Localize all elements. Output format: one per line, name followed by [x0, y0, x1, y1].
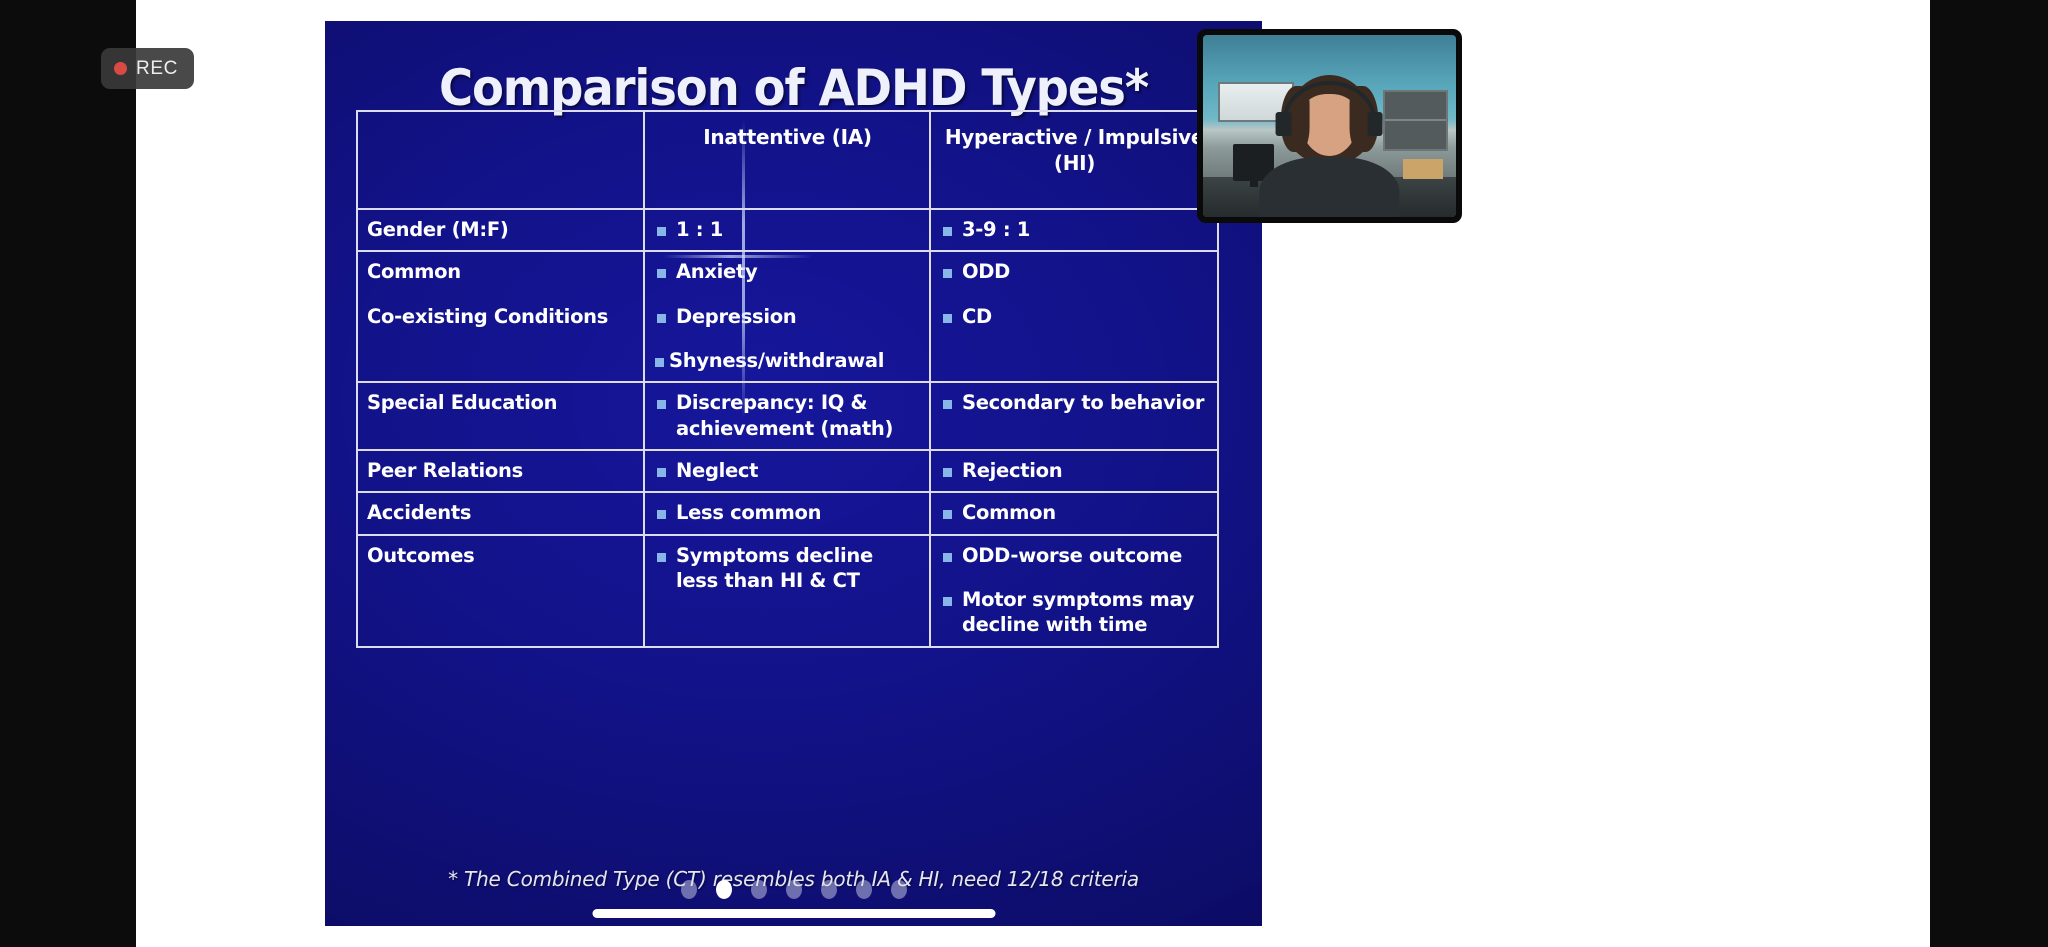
row-label-outcomes: Outcomes	[357, 535, 644, 647]
row-label-line1: Common	[367, 259, 635, 284]
slide-pagination[interactable]	[681, 880, 907, 899]
table-row: Outcomes Symptoms decline less than HI &…	[357, 535, 1218, 647]
row-ia-accidents: Less common	[644, 492, 930, 534]
bullet-item: Rejection	[940, 458, 1209, 483]
bullet-item: ODD	[940, 259, 1209, 284]
pagination-dot[interactable]	[751, 880, 767, 899]
bullet-item: Secondary to behavior	[940, 390, 1209, 415]
pagination-dot[interactable]	[786, 880, 802, 899]
row-label-accidents: Accidents	[357, 492, 644, 534]
row-hi-coexisting: ODD CD	[930, 251, 1218, 382]
row-label-special-education: Special Education	[357, 382, 644, 450]
headset-earcup-right	[1368, 112, 1383, 136]
playback-progress-fill	[592, 909, 995, 918]
pagination-dot[interactable]	[856, 880, 872, 899]
table-header-blank	[357, 111, 644, 209]
table-header-hyperactive: Hyperactive / Impulsive (HI)	[930, 111, 1218, 209]
screen-root: REC Comparison of ADHD Types* Inattentiv…	[0, 0, 2048, 947]
bullet-item: Depression	[654, 304, 921, 329]
pagination-dot-active[interactable]	[716, 880, 732, 899]
row-ia-gender: 1 : 1	[644, 209, 930, 251]
bullet-item: Less common	[654, 500, 921, 525]
pagination-dot[interactable]	[891, 880, 907, 899]
table-header-row: Inattentive (IA) Hyperactive / Impulsive…	[357, 111, 1218, 209]
bullet-item: Shyness/withdrawal	[654, 348, 921, 373]
pagination-dot[interactable]	[681, 880, 697, 899]
row-label-common-coexisting: Common Co-existing Conditions	[357, 251, 644, 382]
comparison-table-wrapper: Inattentive (IA) Hyperactive / Impulsive…	[356, 110, 1217, 648]
bullet-item: ODD-worse outcome	[940, 543, 1209, 568]
presenter-figure	[1270, 75, 1389, 217]
player-right-gutter	[1930, 0, 2048, 947]
shelf-shape	[1383, 90, 1449, 152]
table-row: Accidents Less common Common	[357, 492, 1218, 534]
row-ia-outcomes: Symptoms decline less than HI & CT	[644, 535, 930, 647]
webcam-overlay-tile[interactable]	[1197, 29, 1462, 223]
box-shape	[1403, 159, 1443, 179]
slide-content: Comparison of ADHD Types* Inattentive (I…	[325, 21, 1262, 926]
row-ia-special-education: Discrepancy: IQ & achievement (math)	[644, 382, 930, 450]
recording-label: REC	[136, 58, 178, 80]
row-hi-accidents: Common	[930, 492, 1218, 534]
slide[interactable]: Comparison of ADHD Types* Inattentive (I…	[325, 21, 1262, 926]
row-ia-coexisting: Anxiety Depression Shyness/withdrawal	[644, 251, 930, 382]
comparison-table: Inattentive (IA) Hyperactive / Impulsive…	[356, 110, 1219, 648]
bullet-item: Motor symptoms may decline with time	[940, 587, 1209, 638]
torso-shape	[1259, 157, 1399, 217]
recording-indicator[interactable]: REC	[101, 48, 194, 89]
slide-title: Comparison of ADHD Types*	[358, 59, 1229, 117]
player-left-gutter	[0, 0, 136, 947]
bullet-item: Common	[940, 500, 1209, 525]
bullet-item: CD	[940, 304, 1209, 329]
bullet-item: Neglect	[654, 458, 921, 483]
row-hi-special-education: Secondary to behavior	[930, 382, 1218, 450]
bullet-item: 3-9 : 1	[940, 217, 1209, 242]
table-row: Special Education Discrepancy: IQ & achi…	[357, 382, 1218, 450]
bullet-item: Anxiety	[654, 259, 921, 284]
row-label-peer-relations: Peer Relations	[357, 450, 644, 492]
playback-progress-track[interactable]	[592, 909, 995, 918]
row-label-line2: Co-existing Conditions	[367, 304, 635, 329]
pagination-dot[interactable]	[821, 880, 837, 899]
row-hi-peer-relations: Rejection	[930, 450, 1218, 492]
row-hi-gender: 3-9 : 1	[930, 209, 1218, 251]
table-row: Common Co-existing Conditions Anxiety De…	[357, 251, 1218, 382]
bullet-item: 1 : 1	[654, 217, 921, 242]
row-label-gender: Gender (M:F)	[357, 209, 644, 251]
table-header-inattentive: Inattentive (IA)	[644, 111, 930, 209]
bullet-item: Symptoms decline less than HI & CT	[654, 543, 921, 594]
row-hi-outcomes: ODD-worse outcome Motor symptoms may dec…	[930, 535, 1218, 647]
row-ia-peer-relations: Neglect	[644, 450, 930, 492]
table-row: Gender (M:F) 1 : 1 3-9 : 1	[357, 209, 1218, 251]
table-row: Peer Relations Neglect Rejection	[357, 450, 1218, 492]
record-dot-icon	[114, 62, 127, 75]
headset-earcup-left	[1276, 112, 1291, 136]
bullet-item: Discrepancy: IQ & achievement (math)	[654, 390, 921, 441]
webcam-video-feed	[1203, 35, 1456, 217]
